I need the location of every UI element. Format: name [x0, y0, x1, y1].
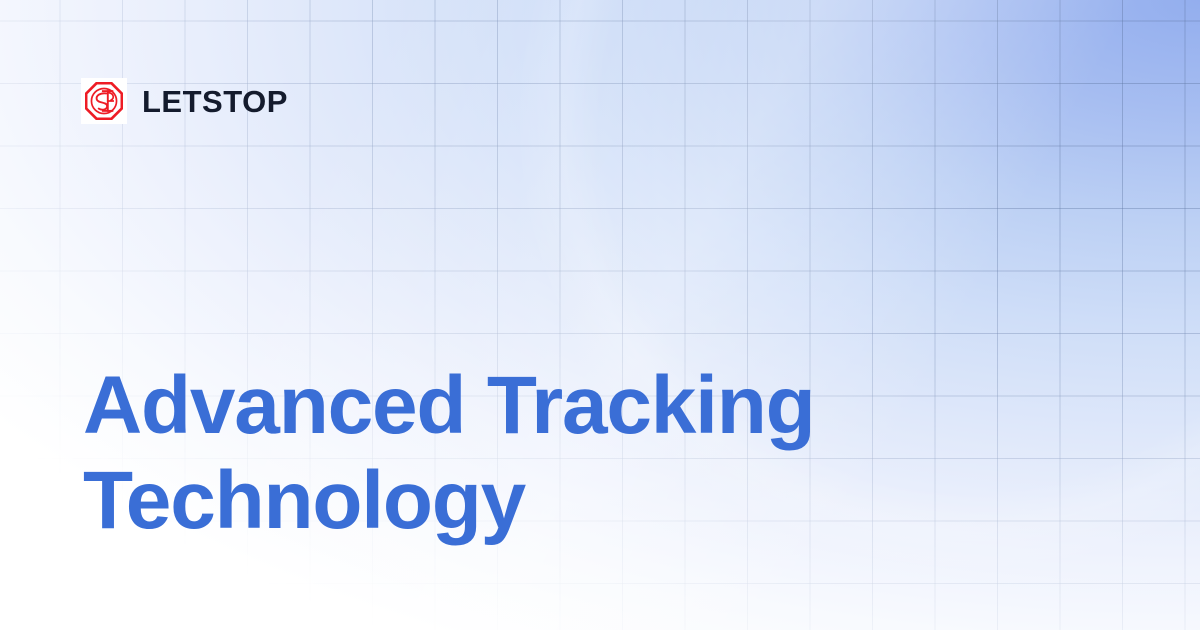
hero-banner: LETSTOP Advanced Tracking Technology — [0, 0, 1200, 630]
brand-lockup[interactable]: LETSTOP — [81, 78, 288, 124]
page-title: Advanced Tracking Technology — [83, 358, 1043, 548]
brand-name: LETSTOP — [142, 86, 288, 117]
stop-sign-monogram-icon — [81, 78, 127, 124]
